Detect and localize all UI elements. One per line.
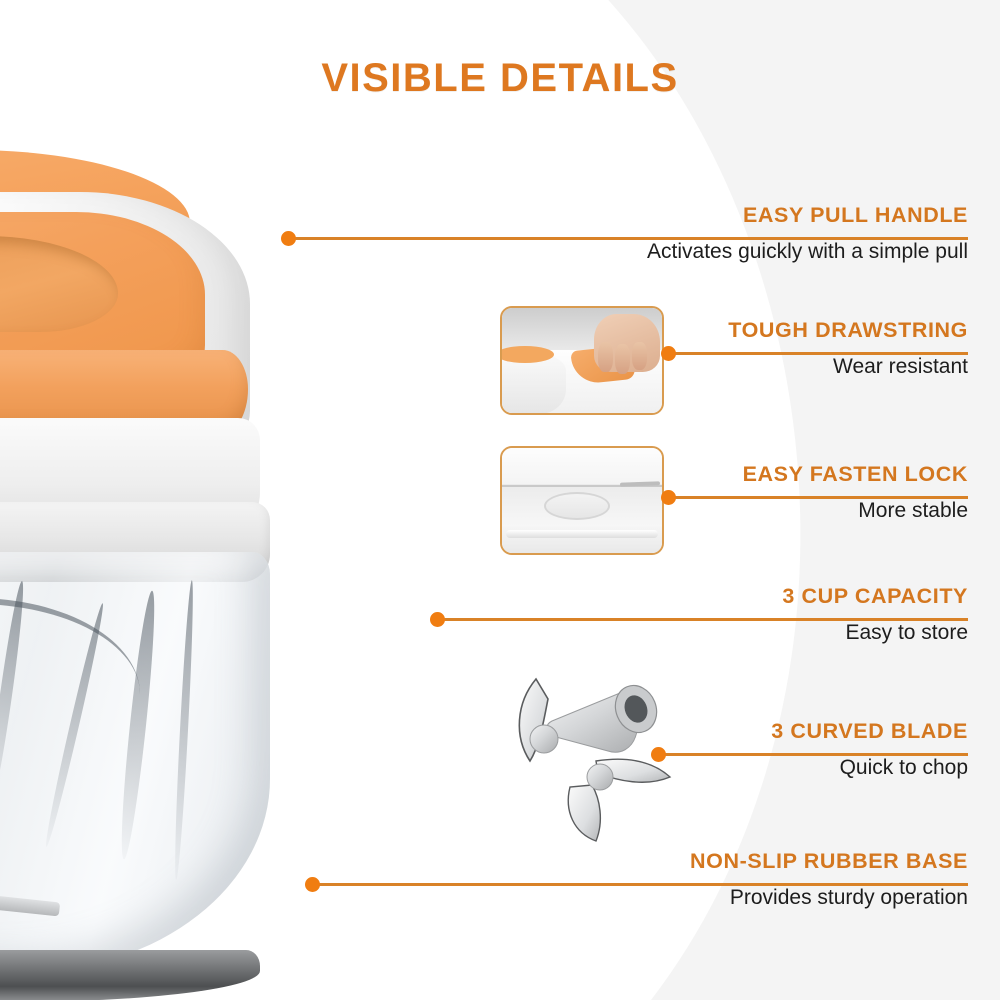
callout-subtitle: Activates guickly with a simple pull [468,239,968,264]
callout-title: 3 CUP CAPACITY [468,585,968,609]
leader-dot-three-cup-capacity [430,612,445,627]
leader-dot-easy-pull-handle [281,231,296,246]
callout-subtitle: Quick to chop [468,755,968,780]
page-title: VISIBLE DETAILS [0,56,1000,101]
product-image [0,150,470,950]
callout-subtitle: Provides sturdy operation [468,885,968,910]
callout-title: 3 CURVED BLADE [468,720,968,744]
callout-title: EASY FASTEN LOCK [468,463,968,487]
callout-non-slip-rubber-base: NON-SLIP RUBBER BASE Provides sturdy ope… [468,850,968,910]
callout-title: NON-SLIP RUBBER BASE [468,850,968,874]
callout-easy-pull-handle: EASY PULL HANDLE Activates guickly with … [468,204,968,264]
callout-title: TOUGH DRAWSTRING [468,319,968,343]
blade-lower [568,785,600,841]
callout-three-cup-capacity: 3 CUP CAPACITY Easy to store [468,585,968,645]
callout-subtitle: Wear resistant [468,354,968,379]
callout-title: EASY PULL HANDLE [468,204,968,228]
callout-three-curved-blade: 3 CURVED BLADE Quick to chop [468,720,968,780]
callout-subtitle: Easy to store [468,620,968,645]
callout-subtitle: More stable [468,498,968,523]
leader-dot-non-slip-rubber-base [305,877,320,892]
callout-easy-fasten-lock: EASY FASTEN LOCK More stable [468,463,968,523]
infographic-canvas: VISIBLE DETAILS [0,0,1000,1000]
inset-lock-lip [506,530,658,538]
callout-tough-drawstring: TOUGH DRAWSTRING Wear resistant [468,319,968,379]
